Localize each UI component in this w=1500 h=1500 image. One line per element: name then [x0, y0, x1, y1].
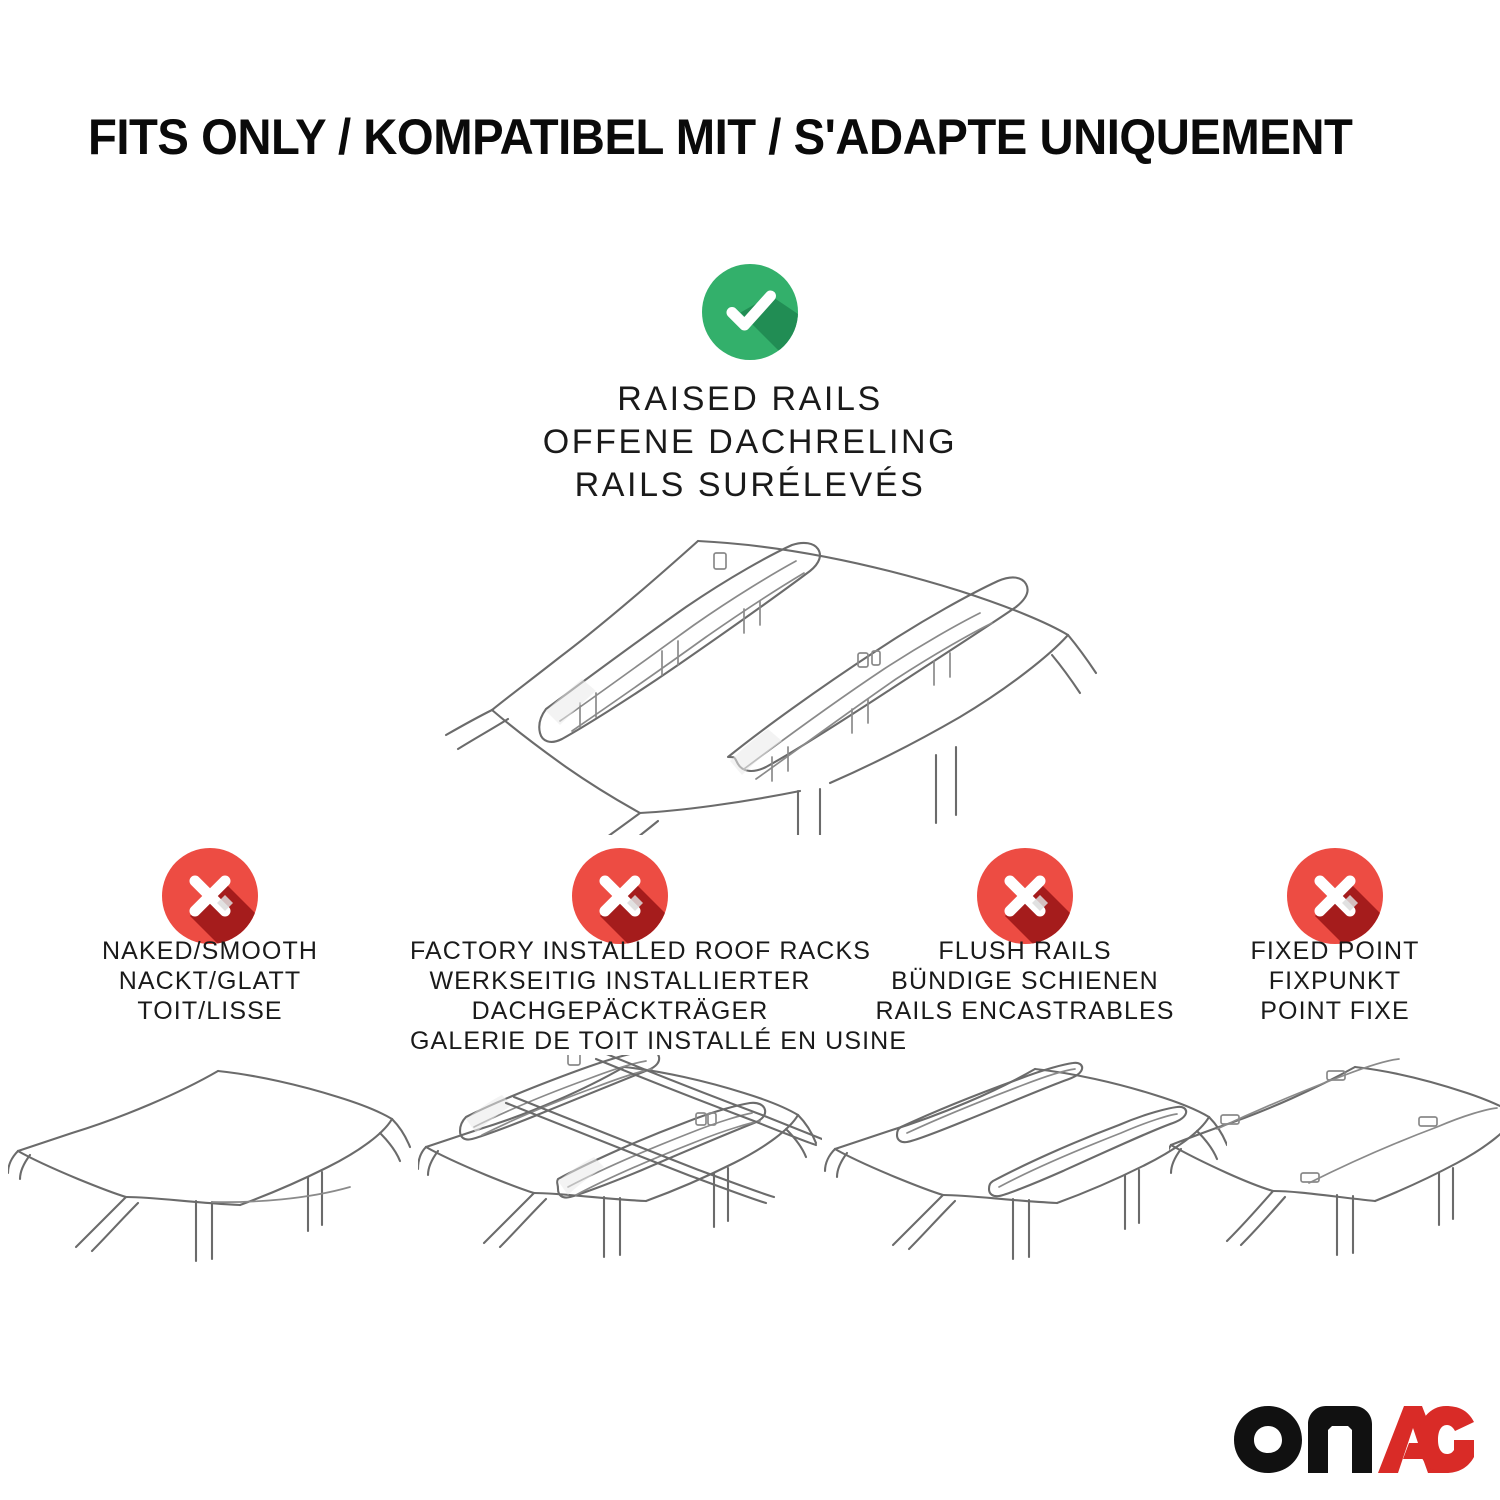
x-circle-icon: [975, 846, 1075, 946]
caption-line: RAISED RAILS: [450, 378, 1050, 421]
caption-line: OFFENE DACHRELING: [450, 421, 1050, 464]
caption-line: WERKSEITIG INSTALLIERTER: [410, 966, 830, 996]
omac-logo: [1232, 1404, 1474, 1474]
compatible-caption: RAISED RAILS OFFENE DACHRELING RAILS SUR…: [450, 378, 1050, 507]
incompatible-item-naked-smooth: NAKED/SMOOTH NACKT/GLATT TOIT/LISSE: [0, 840, 420, 1300]
x-circle-icon: [1285, 846, 1385, 946]
x-circle-icon: [570, 846, 670, 946]
logo-letter-o: [1234, 1406, 1302, 1473]
incompatible-caption: FACTORY INSTALLED ROOF RACKS WERKSEITIG …: [410, 936, 830, 1056]
caption-line: GALERIE DE TOIT INSTALLÉ EN USINE: [410, 1026, 830, 1056]
caption-line: RAILS SURÉLEVÉS: [450, 464, 1050, 507]
incompatible-item-factory-racks: FACTORY INSTALLED ROOF RACKS WERKSEITIG …: [410, 840, 830, 1300]
incompatible-section: NAKED/SMOOTH NACKT/GLATT TOIT/LISSE: [0, 840, 1500, 1300]
page-title: FITS ONLY / KOMPATIBEL MIT / S'ADAPTE UN…: [88, 108, 1345, 166]
caption-line: FIXPUNKT: [1125, 966, 1500, 996]
car-roof-naked-smooth-illustration: [8, 1055, 412, 1280]
logo-letter-c: [1418, 1406, 1474, 1473]
car-roof-fixed-point-illustration: [1169, 1055, 1500, 1280]
x-circle-icon: [160, 846, 260, 946]
incompatible-caption: NAKED/SMOOTH NACKT/GLATT TOIT/LISSE: [0, 936, 420, 1026]
caption-line: NAKED/SMOOTH: [0, 936, 420, 966]
incompatible-item-fixed-point: FIXED POINT FIXPUNKT POINT FIXE: [1125, 840, 1500, 1300]
caption-line: DACHGEPÄCKTRÄGER: [410, 996, 830, 1026]
caption-line: NACKT/GLATT: [0, 966, 420, 996]
incompatible-caption: FIXED POINT FIXPUNKT POINT FIXE: [1125, 936, 1500, 1026]
car-roof-factory-racks-illustration: [418, 1055, 822, 1280]
logo-letter-m: [1308, 1406, 1372, 1473]
caption-line: TOIT/LISSE: [0, 996, 420, 1026]
check-circle-icon: [700, 262, 800, 362]
caption-line: FIXED POINT: [1125, 936, 1500, 966]
car-roof-raised-rails-illustration: [400, 505, 1100, 835]
caption-line: FACTORY INSTALLED ROOF RACKS: [410, 936, 830, 966]
caption-line: POINT FIXE: [1125, 996, 1500, 1026]
